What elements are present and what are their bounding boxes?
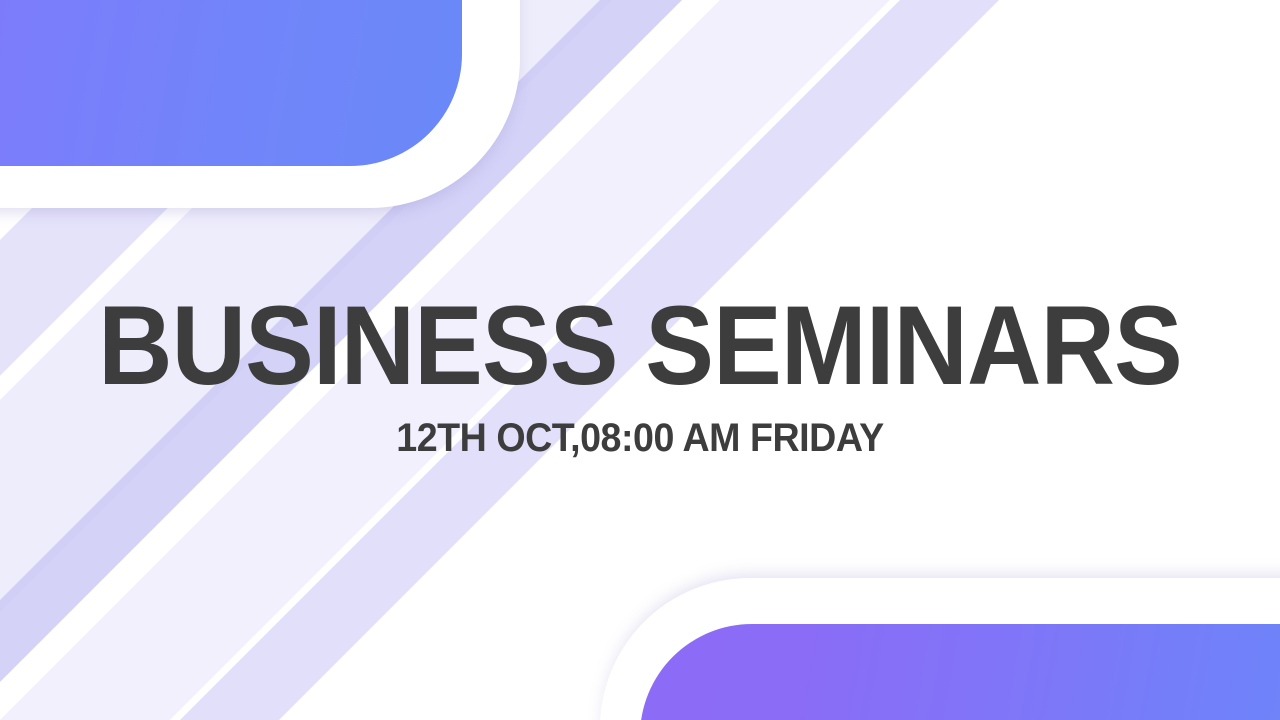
event-poster: BUSINESS SEMINARS 12TH OCT,08:00 AM FRID… — [0, 0, 1280, 720]
poster-text-block: BUSINESS SEMINARS 12TH OCT,08:00 AM FRID… — [0, 290, 1280, 458]
bottom-right-banner-gradient — [640, 624, 1280, 720]
event-datetime-subtitle: 12TH OCT,08:00 AM FRIDAY — [38, 418, 1241, 458]
event-title: BUSINESS SEMINARS — [51, 290, 1229, 402]
top-left-banner-gradient — [0, 0, 462, 166]
